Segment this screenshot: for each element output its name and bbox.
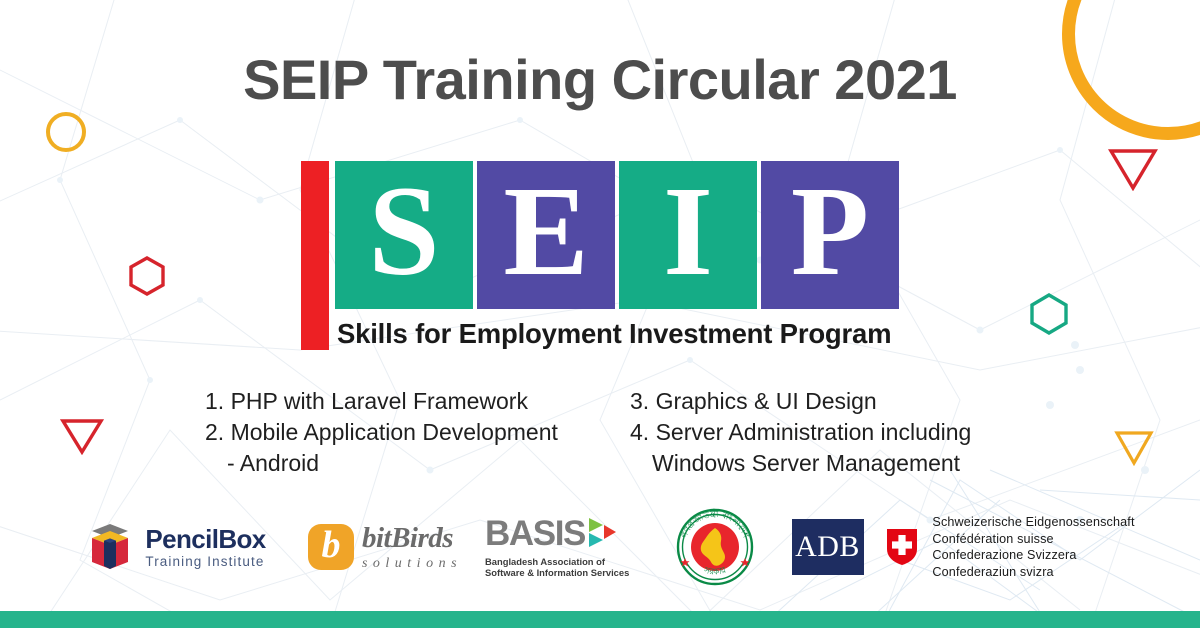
basis-wordmark: BASIS (485, 516, 617, 551)
bitbirds-name-part2: Birds (391, 522, 453, 554)
partner-logo-strip: PencilBox Training Institute b bitBirds … (0, 497, 1200, 597)
course-item: 3. Graphics & UI Design (630, 386, 1035, 417)
course-list: 1. PHP with Laravel Framework 2. Mobile … (205, 386, 1035, 479)
swiss-line-de: Schweizerische Eidgenossenschaft (932, 514, 1134, 531)
seip-letter-tiles: S E I P (329, 161, 899, 309)
pencilbox-subtitle: Training Institute (145, 555, 265, 569)
partner-logo-bangladesh-government: গণপ্রজাতন্ত্রী বাংলাদেশ সরকার (660, 508, 770, 586)
poster-content: SEIP Training Circular 2021 S E I P Skil… (0, 0, 1200, 628)
bitbirds-name: bitBirds (362, 524, 462, 553)
course-column-left: 1. PHP with Laravel Framework 2. Mobile … (205, 386, 630, 479)
page-title: SEIP Training Circular 2021 (0, 47, 1200, 112)
partner-logo-adb: ADB (770, 519, 885, 575)
pencilbox-icon (84, 522, 136, 572)
seip-letter-tile-e: E (477, 161, 615, 309)
partner-logo-pencilbox: PencilBox Training Institute (65, 522, 285, 572)
bottom-accent-bar (0, 611, 1200, 628)
seip-letter-tile-i: I (619, 161, 757, 309)
poster-canvas: SEIP Training Circular 2021 S E I P Skil… (0, 0, 1200, 628)
adb-name: ADB (792, 519, 864, 575)
basis-subtitle-line2: Software & Information Services (485, 567, 629, 578)
course-item-continuation: - Android (205, 448, 630, 479)
course-item-continuation: Windows Server Management (630, 448, 1035, 479)
swiss-line-fr: Confédération suisse (932, 531, 1134, 548)
bitbirds-icon: b (308, 524, 354, 570)
pencilbox-wordmark: PencilBox Training Institute (145, 526, 265, 569)
basis-triangle-icon (587, 517, 617, 551)
partner-logo-basis: BASIS Bangladesh Association of Software… (485, 516, 660, 578)
course-column-right: 3. Graphics & UI Design 4. Server Admini… (630, 386, 1035, 479)
basis-subtitle-line1: Bangladesh Association of (485, 556, 629, 567)
course-item: 1. PHP with Laravel Framework (205, 386, 630, 417)
basis-subtitle: Bangladesh Association of Software & Inf… (485, 556, 629, 578)
swiss-line-rm: Confederaziun svizra (932, 564, 1134, 581)
swiss-line-it: Confederazione Svizzera (932, 547, 1134, 564)
bitbirds-wordmark: bitBirds solutions (362, 524, 462, 571)
pencilbox-name: PencilBox (145, 526, 265, 552)
seip-logo-body: S E I P Skills for Employment Investment… (329, 161, 899, 350)
seip-tagline: Skills for Employment Investment Program (329, 309, 899, 350)
swiss-wordmark: Schweizerische Eidgenossenschaft Confédé… (932, 514, 1134, 580)
partner-logo-swiss-confederation: Schweizerische Eidgenossenschaft Confédé… (885, 514, 1135, 580)
partner-logo-bitbirds: b bitBirds solutions (285, 524, 485, 571)
bitbirds-subtitle: solutions (362, 557, 462, 571)
seip-letter-tile-p: P (761, 161, 899, 309)
swiss-shield-icon (885, 527, 919, 567)
bitbirds-name-part1: bit (362, 522, 391, 554)
basis-name: BASIS (485, 516, 585, 551)
seip-letter-tile-s: S (335, 161, 473, 309)
seip-logo: S E I P Skills for Employment Investment… (301, 161, 899, 350)
bangladesh-government-seal-icon: গণপ্রজাতন্ত্রী বাংলাদেশ সরকার (676, 508, 754, 586)
course-item: 4. Server Administration including (630, 417, 1035, 448)
course-item: 2. Mobile Application Development (205, 417, 630, 448)
seip-red-bar (301, 161, 329, 350)
